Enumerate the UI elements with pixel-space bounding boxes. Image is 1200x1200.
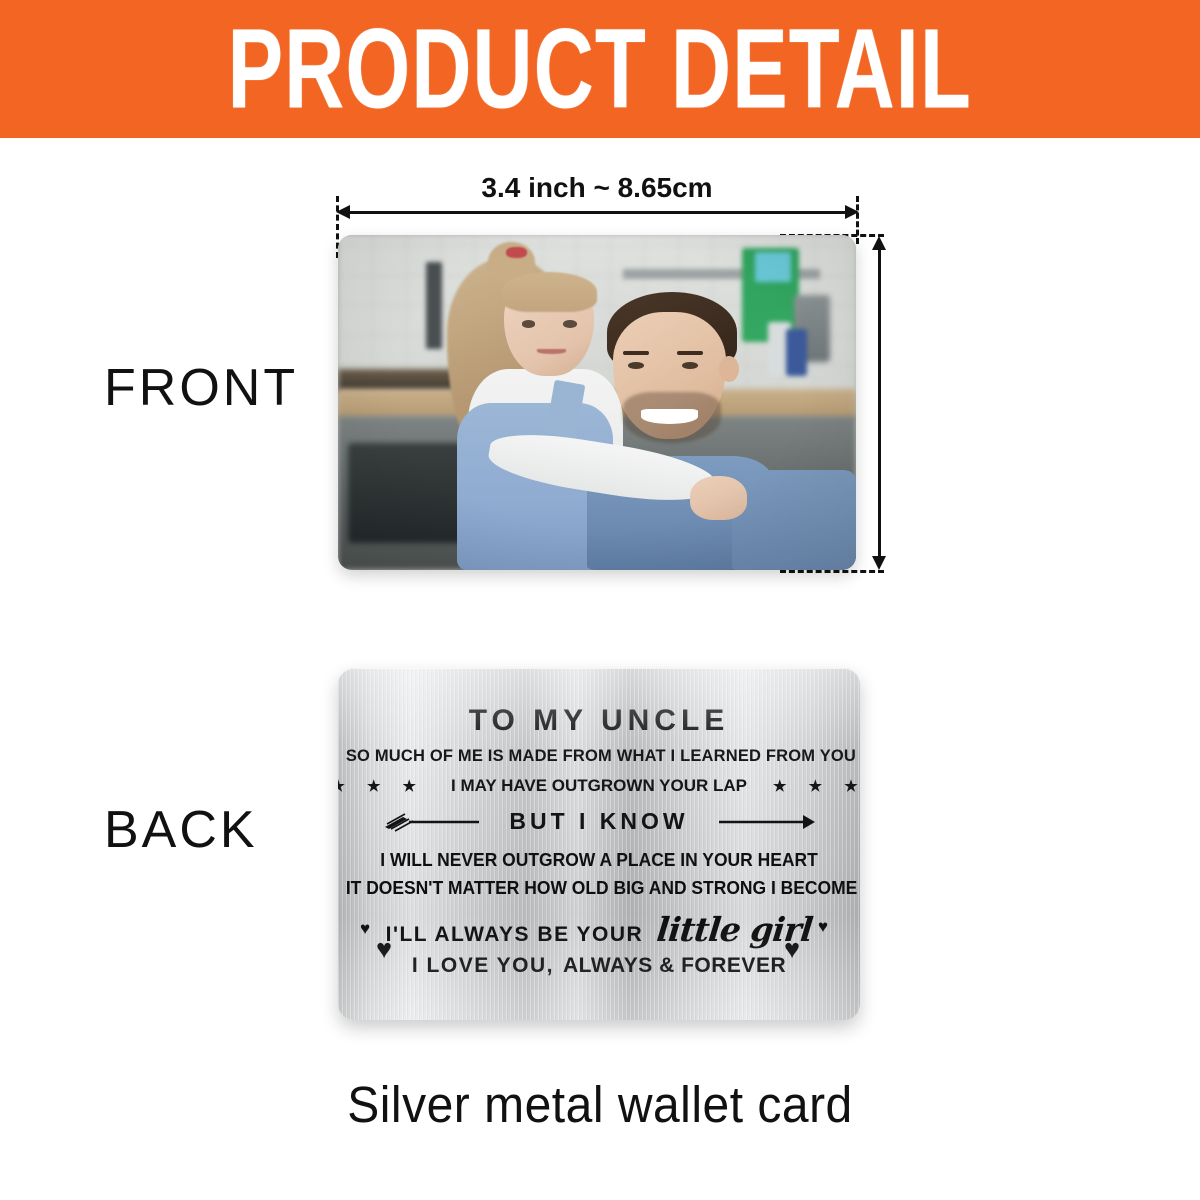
engraving-line-3: BUT I KNOW bbox=[509, 808, 688, 835]
engraving-line-3-row: BUT I KNOW bbox=[338, 808, 860, 835]
feathered-arrow-icon bbox=[383, 812, 479, 832]
photo-vignette bbox=[338, 235, 856, 570]
stars-right-icon: ★ ★ ★ bbox=[773, 779, 860, 794]
heart-icon-right-small: ♥ bbox=[818, 918, 828, 935]
width-dimension-line bbox=[343, 211, 852, 214]
engraving-line-2: I MAY HAVE OUTGROWN YOUR LAP bbox=[451, 776, 747, 796]
tick-bottom-right bbox=[780, 570, 884, 573]
engraving-line-6-prefix: I'LL ALWAYS BE YOUR bbox=[386, 923, 644, 947]
front-card[interactable] bbox=[338, 235, 856, 570]
height-dimension-line bbox=[878, 245, 881, 563]
engraving-line-2-row: ★ ★ ★ I MAY HAVE OUTGROWN YOUR LAP ★ ★ ★ bbox=[338, 776, 860, 796]
engraving-line-6-row: I'LL ALWAYS BE YOUR little girl bbox=[338, 910, 860, 949]
plain-arrow-icon bbox=[719, 812, 815, 832]
engraving-line-4: I WILL NEVER OUTGROW A PLACE IN YOUR HEA… bbox=[346, 850, 852, 871]
engraving-line-5: IT DOESN'T MATTER HOW OLD BIG AND STRONG… bbox=[346, 878, 852, 899]
arrow-down-icon bbox=[872, 556, 886, 570]
page-title: PRODUCT DETAIL bbox=[228, 12, 972, 126]
heart-icon-left-large: ♥ bbox=[376, 936, 392, 963]
engraving-line-7-row: I LOVE YOU, ALWAYS & FOREVER bbox=[338, 954, 860, 978]
engraving-line-7-bold: I LOVE YOU, bbox=[412, 954, 554, 978]
back-label: BACK bbox=[104, 800, 258, 860]
width-dimension-label: 3.4 inch ~ 8.65cm bbox=[338, 172, 856, 204]
engraving-line-7-rest: ALWAYS & FOREVER bbox=[563, 954, 786, 978]
footer-caption: Silver metal wallet card bbox=[0, 1076, 1200, 1134]
header-banner: PRODUCT DETAIL bbox=[0, 0, 1200, 138]
front-label: FRONT bbox=[104, 358, 298, 418]
heart-icon-left-small: ♥ bbox=[360, 920, 370, 937]
engraving-line-1: SO MUCH OF ME IS MADE FROM WHAT I LEARNE… bbox=[346, 746, 852, 766]
arrow-up-icon bbox=[872, 236, 886, 250]
stars-left-icon: ★ ★ ★ bbox=[338, 779, 425, 794]
heart-icon-right-large: ♥ bbox=[784, 936, 800, 963]
engraving-title: TO MY UNCLE bbox=[338, 704, 860, 738]
back-card[interactable]: TO MY UNCLE SO MUCH OF ME IS MADE FROM W… bbox=[338, 668, 860, 1020]
product-front-photo bbox=[338, 235, 856, 570]
